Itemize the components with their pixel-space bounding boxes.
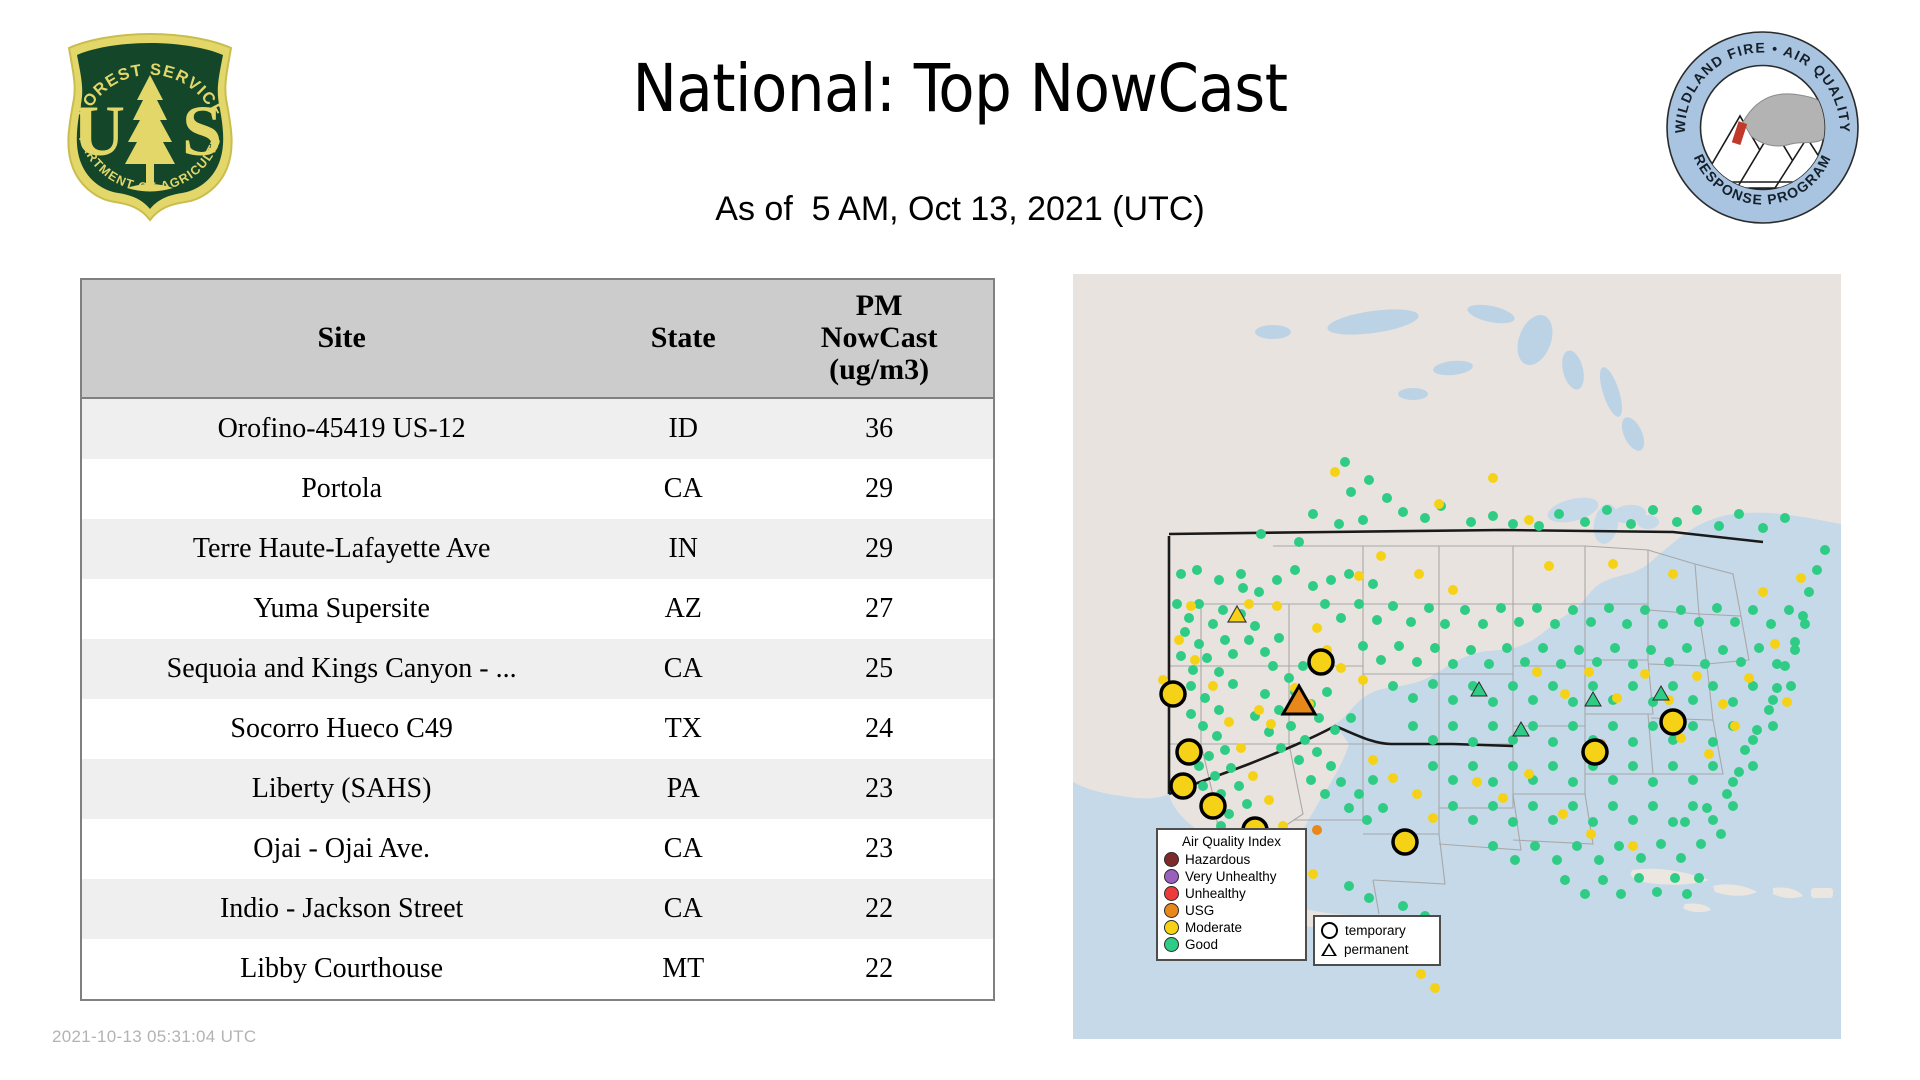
aqi-legend-row: Hazardous xyxy=(1164,851,1299,868)
pm-header-line-2: NowCast xyxy=(769,322,989,354)
table-header-row: Site State PM NowCast (ug/m3) xyxy=(82,280,993,398)
cell-pm-nowcast: 23 xyxy=(765,759,993,819)
aqi-swatch-icon xyxy=(1164,937,1179,952)
aqi-legend-row: Unhealthy xyxy=(1164,885,1299,902)
top-site-marker-terrehaute xyxy=(1583,740,1607,764)
top-site-marker-ojai xyxy=(1171,774,1195,798)
aqi-legend-label: Moderate xyxy=(1185,919,1242,936)
page-title: National: Top NowCast xyxy=(0,50,1920,127)
slide-root: FOREST SERVICE DEPARTMENT OF AGRICULTURE… xyxy=(0,0,1920,1080)
page-subtitle: As of 5 AM, Oct 13, 2021 (UTC) xyxy=(0,190,1920,229)
cell-pm-nowcast: 22 xyxy=(765,879,993,939)
table-row: Yuma SupersiteAZ27 xyxy=(82,579,993,639)
table-row: Socorro Hueco C49TX24 xyxy=(82,699,993,759)
cell-state: AZ xyxy=(601,579,765,639)
cell-site: Ojai - Ojai Ave. xyxy=(82,819,601,879)
aqi-legend-label: Good xyxy=(1185,936,1218,953)
cell-pm-nowcast: 25 xyxy=(765,639,993,699)
cell-pm-nowcast: 24 xyxy=(765,699,993,759)
triangle-icon xyxy=(1321,943,1337,956)
top-site-marker-indio xyxy=(1201,794,1225,818)
aqi-swatch-icon xyxy=(1164,903,1179,918)
cell-site: Terre Haute-Lafayette Ave xyxy=(82,519,601,579)
aqi-legend-row: Moderate xyxy=(1164,919,1299,936)
cell-state: CA xyxy=(601,459,765,519)
cell-state: CA xyxy=(601,879,765,939)
cell-pm-nowcast: 23 xyxy=(765,819,993,879)
cell-site: Indio - Jackson Street xyxy=(82,879,601,939)
top-nowcast-table-container: Site State PM NowCast (ug/m3) Orofino-45… xyxy=(80,278,995,1001)
cell-state: IN xyxy=(601,519,765,579)
cell-site: Socorro Hueco C49 xyxy=(82,699,601,759)
aqi-legend-row: Very Unhealthy xyxy=(1164,868,1299,885)
table-row: Indio - Jackson StreetCA22 xyxy=(82,879,993,939)
table-body: Orofino-45419 US-12ID36PortolaCA29Terre … xyxy=(82,398,993,999)
aqi-legend-label: Hazardous xyxy=(1185,851,1250,868)
cell-site: Orofino-45419 US-12 xyxy=(82,398,601,459)
top-site-marker-liberty xyxy=(1661,710,1685,734)
circle-icon xyxy=(1321,922,1338,939)
legend-row-permanent: permanent xyxy=(1321,940,1433,959)
legend-row-temporary: temporary xyxy=(1321,921,1433,940)
aqi-legend-label: Unhealthy xyxy=(1185,885,1246,902)
site-type-legend: temporary permanent xyxy=(1313,915,1441,966)
cell-state: CA xyxy=(601,639,765,699)
table-row: Libby CourthouseMT22 xyxy=(82,939,993,999)
cell-state: CA xyxy=(601,819,765,879)
cell-pm-nowcast: 22 xyxy=(765,939,993,999)
wfaqrp-circular-logo: WILDLAND FIRE • AIR QUALITY RESPONSE PRO… xyxy=(1665,30,1860,225)
legend-label-permanent: permanent xyxy=(1344,940,1409,959)
top-site-marker-socorro xyxy=(1393,830,1417,854)
cell-site: Portola xyxy=(82,459,601,519)
cell-state: PA xyxy=(601,759,765,819)
cell-state: MT xyxy=(601,939,765,999)
aqi-legend-row: USG xyxy=(1164,902,1299,919)
cell-pm-nowcast: 29 xyxy=(765,459,993,519)
cell-site: Libby Courthouse xyxy=(82,939,601,999)
aqi-legend-title: Air Quality Index xyxy=(1164,834,1299,849)
top-site-marker-1 xyxy=(1309,650,1333,674)
pm-header-line-3: (ug/m3) xyxy=(769,354,989,386)
aqi-swatch-icon xyxy=(1164,886,1179,901)
cell-state: TX xyxy=(601,699,765,759)
cell-pm-nowcast: 36 xyxy=(765,398,993,459)
top-site-marker-sequoia xyxy=(1177,740,1201,764)
table-row: Orofino-45419 US-12ID36 xyxy=(82,398,993,459)
top-site-marker-portola xyxy=(1161,682,1185,706)
aqi-legend-items: HazardousVery UnhealthyUnhealthyUSGModer… xyxy=(1164,851,1299,953)
footer-timestamp: 2021-10-13 05:31:04 UTC xyxy=(52,1027,256,1047)
table-row: Sequoia and Kings Canyon - ...CA25 xyxy=(82,639,993,699)
cell-state: ID xyxy=(601,398,765,459)
aqi-legend: Air Quality Index HazardousVery Unhealth… xyxy=(1156,828,1307,961)
cell-pm-nowcast: 27 xyxy=(765,579,993,639)
aqi-swatch-icon xyxy=(1164,920,1179,935)
legend-label-temporary: temporary xyxy=(1345,921,1406,940)
cell-site: Liberty (SAHS) xyxy=(82,759,601,819)
column-header-state: State xyxy=(601,280,765,398)
aqi-swatch-icon xyxy=(1164,869,1179,884)
aqi-monitor-map[interactable]: Air Quality Index HazardousVery Unhealth… xyxy=(1073,274,1841,1039)
top-nowcast-table: Site State PM NowCast (ug/m3) Orofino-45… xyxy=(82,280,993,999)
aqi-legend-row: Good xyxy=(1164,936,1299,953)
column-header-site: Site xyxy=(82,280,601,398)
table-row: Liberty (SAHS)PA23 xyxy=(82,759,993,819)
aqi-legend-label: USG xyxy=(1185,902,1214,919)
table-row: PortolaCA29 xyxy=(82,459,993,519)
cell-site: Sequoia and Kings Canyon - ... xyxy=(82,639,601,699)
aqi-legend-label: Very Unhealthy xyxy=(1185,868,1277,885)
cell-pm-nowcast: 29 xyxy=(765,519,993,579)
table-row: Terre Haute-Lafayette AveIN29 xyxy=(82,519,993,579)
table-row: Ojai - Ojai Ave.CA23 xyxy=(82,819,993,879)
cell-site: Yuma Supersite xyxy=(82,579,601,639)
pm-header-line-1: PM xyxy=(769,290,989,322)
column-header-pm-nowcast: PM NowCast (ug/m3) xyxy=(765,280,993,398)
aqi-swatch-icon xyxy=(1164,852,1179,867)
